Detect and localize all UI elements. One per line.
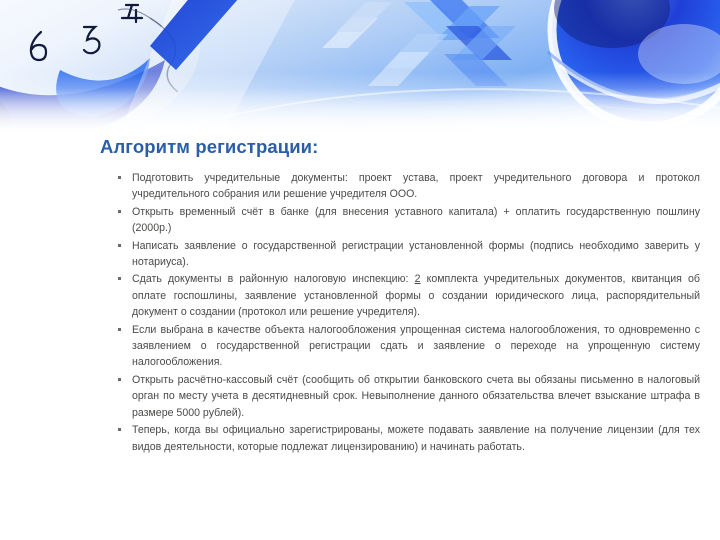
bullet-item: Открыть расчётно-кассовый счёт (сообщить…: [0, 372, 720, 421]
bullet-marker-icon: [118, 176, 121, 179]
bullet-text: Сдать документы в районную налоговую инс…: [132, 271, 700, 320]
bullet-text-run: Сдать документы в районную налоговую инс…: [132, 273, 415, 285]
bullet-text: Если выбрана в качестве объекта налогооб…: [132, 322, 700, 371]
bullet-marker-icon: [118, 378, 121, 381]
bullet-item: Если выбрана в качестве объекта налогооб…: [0, 322, 720, 371]
bullet-text-run: Открыть временный счёт в банке (для внес…: [132, 206, 700, 234]
bullet-marker-icon: [118, 328, 121, 331]
bullet-text: Теперь, когда вы официально зарегистриро…: [132, 422, 700, 455]
bullet-text: Открыть временный счёт в банке (для внес…: [132, 204, 700, 237]
slide-title: Алгоритм регистрации:: [100, 136, 660, 158]
bullet-text-run: Подготовить учредительные документы: про…: [132, 172, 700, 200]
bullet-item: Теперь, когда вы официально зарегистриро…: [0, 422, 720, 455]
bullet-item: Написать заявление о государственной рег…: [0, 238, 720, 271]
presentation-slide: Алгоритм регистрации: Подготовить учреди…: [0, 0, 720, 540]
bullet-text: Подготовить учредительные документы: про…: [132, 170, 700, 203]
bullet-text-run: Написать заявление о государственной рег…: [132, 240, 700, 268]
bullet-marker-icon: [118, 244, 121, 247]
blue-abstract-header-image: [0, 0, 720, 132]
bullet-marker-icon: [118, 428, 121, 431]
banner-artwork: [0, 0, 720, 132]
bullet-text-run: Если выбрана в качестве объекта налогооб…: [132, 324, 700, 369]
bullet-marker-icon: [118, 210, 121, 213]
bullet-list: Подготовить учредительные документы: про…: [0, 170, 720, 455]
bullet-text-run: Открыть расчётно-кассовый счёт (сообщить…: [132, 374, 700, 419]
bullet-item: Сдать документы в районную налоговую инс…: [0, 271, 720, 320]
bullet-text: Написать заявление о государственной рег…: [132, 238, 700, 271]
bullet-item: Открыть временный счёт в банке (для внес…: [0, 204, 720, 237]
slide-body: Подготовить учредительные документы: про…: [0, 170, 720, 520]
bullet-marker-icon: [118, 277, 121, 280]
bullet-item: Подготовить учредительные документы: про…: [0, 170, 720, 203]
bullet-text-run: Теперь, когда вы официально зарегистриро…: [132, 424, 700, 452]
bullet-text: Открыть расчётно-кассовый счёт (сообщить…: [132, 372, 700, 421]
